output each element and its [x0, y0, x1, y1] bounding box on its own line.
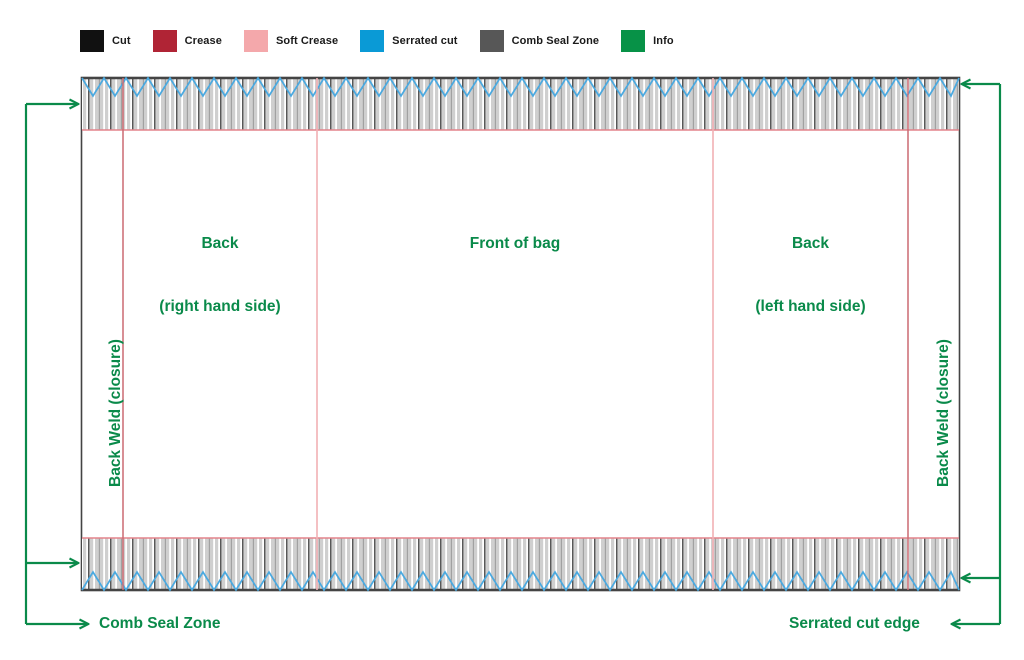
panel-label-line1: Front of bag: [317, 234, 713, 255]
comb-seal-zone-top: [82, 78, 959, 130]
comb-seal-zone-bottom: [82, 538, 959, 590]
panel-label-front: Front of bag: [317, 192, 713, 276]
panel-label-line1: Back: [123, 234, 317, 255]
side-label-back-weld-right: Back Weld (closure): [935, 339, 953, 487]
comb-seal-zone-leader-lines: [26, 104, 88, 624]
panel-label-line1: Back: [713, 234, 908, 255]
callout-label-comb-seal-zone: Comb Seal Zone: [99, 615, 220, 633]
panel-label-line2: (right hand side): [123, 297, 317, 318]
side-label-back-weld-left: Back Weld (closure): [107, 339, 125, 487]
panel-label-back-right: Back (right hand side): [123, 192, 317, 338]
callout-label-serrated-cut-edge: Serrated cut edge: [789, 615, 920, 633]
panel-label-back-left: Back (left hand side): [713, 192, 908, 338]
panel-label-line2: (left hand side): [713, 297, 908, 318]
